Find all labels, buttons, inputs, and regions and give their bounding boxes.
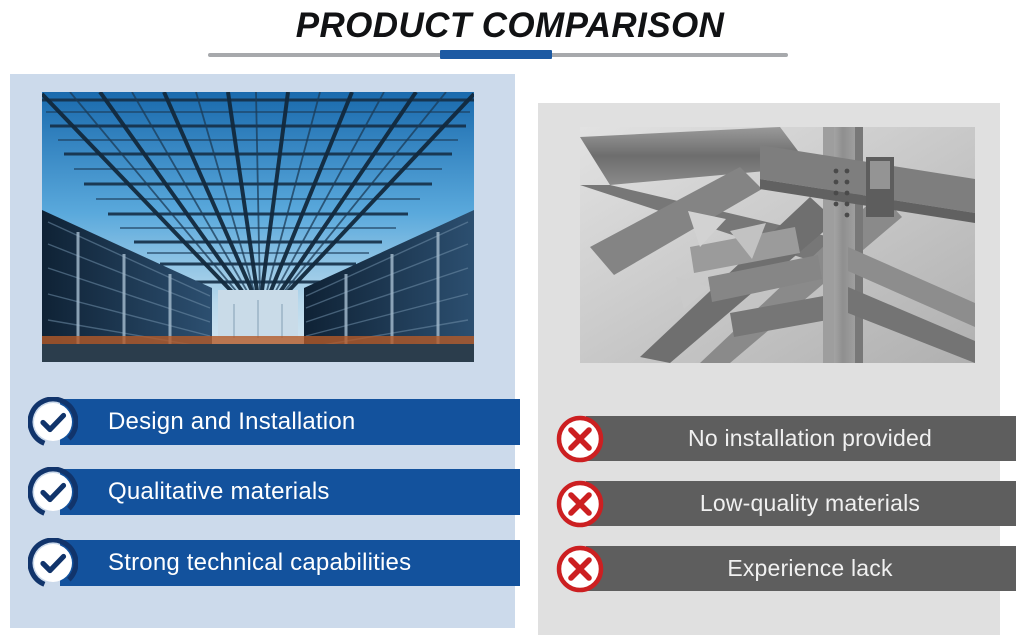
x-circle-glyph [556,545,604,593]
x-circle-icon [556,545,604,593]
con-bar: No installation provided [586,416,1016,461]
con-bar: Low-quality materials [586,481,1016,526]
feature-label: Strong technical capabilities [60,549,411,577]
check-circle-icon [28,538,78,588]
feature-bar: Strong technical capabilities [60,540,520,586]
steel-beams-illustration [580,127,975,363]
x-circle-glyph [556,480,604,528]
con-label: No installation provided [660,425,942,452]
check-circle-icon [28,467,78,517]
title-divider-accent [440,50,552,59]
right-panel-photo [580,127,975,363]
check-circle-icon [28,397,78,447]
feature-bar: Qualitative materials [60,469,520,515]
page-title-area: PRODUCT COMPARISON [0,6,1020,46]
feature-label: Design and Installation [60,408,355,436]
product-comparison-slide: PRODUCT COMPARISON [0,0,1020,642]
page-title: PRODUCT COMPARISON [296,6,725,46]
check-circle-glyph [28,467,78,517]
con-bar: Experience lack [586,546,1016,591]
check-circle-glyph [28,538,78,588]
check-circle-glyph [28,397,78,447]
x-circle-icon [556,480,604,528]
x-circle-glyph [556,415,604,463]
x-circle-icon [556,415,604,463]
con-label: Low-quality materials [672,490,930,517]
steel-warehouse-illustration [42,92,474,362]
feature-bar: Design and Installation [60,399,520,445]
con-label: Experience lack [699,555,902,582]
feature-label: Qualitative materials [60,478,330,506]
left-panel-photo [42,92,474,362]
